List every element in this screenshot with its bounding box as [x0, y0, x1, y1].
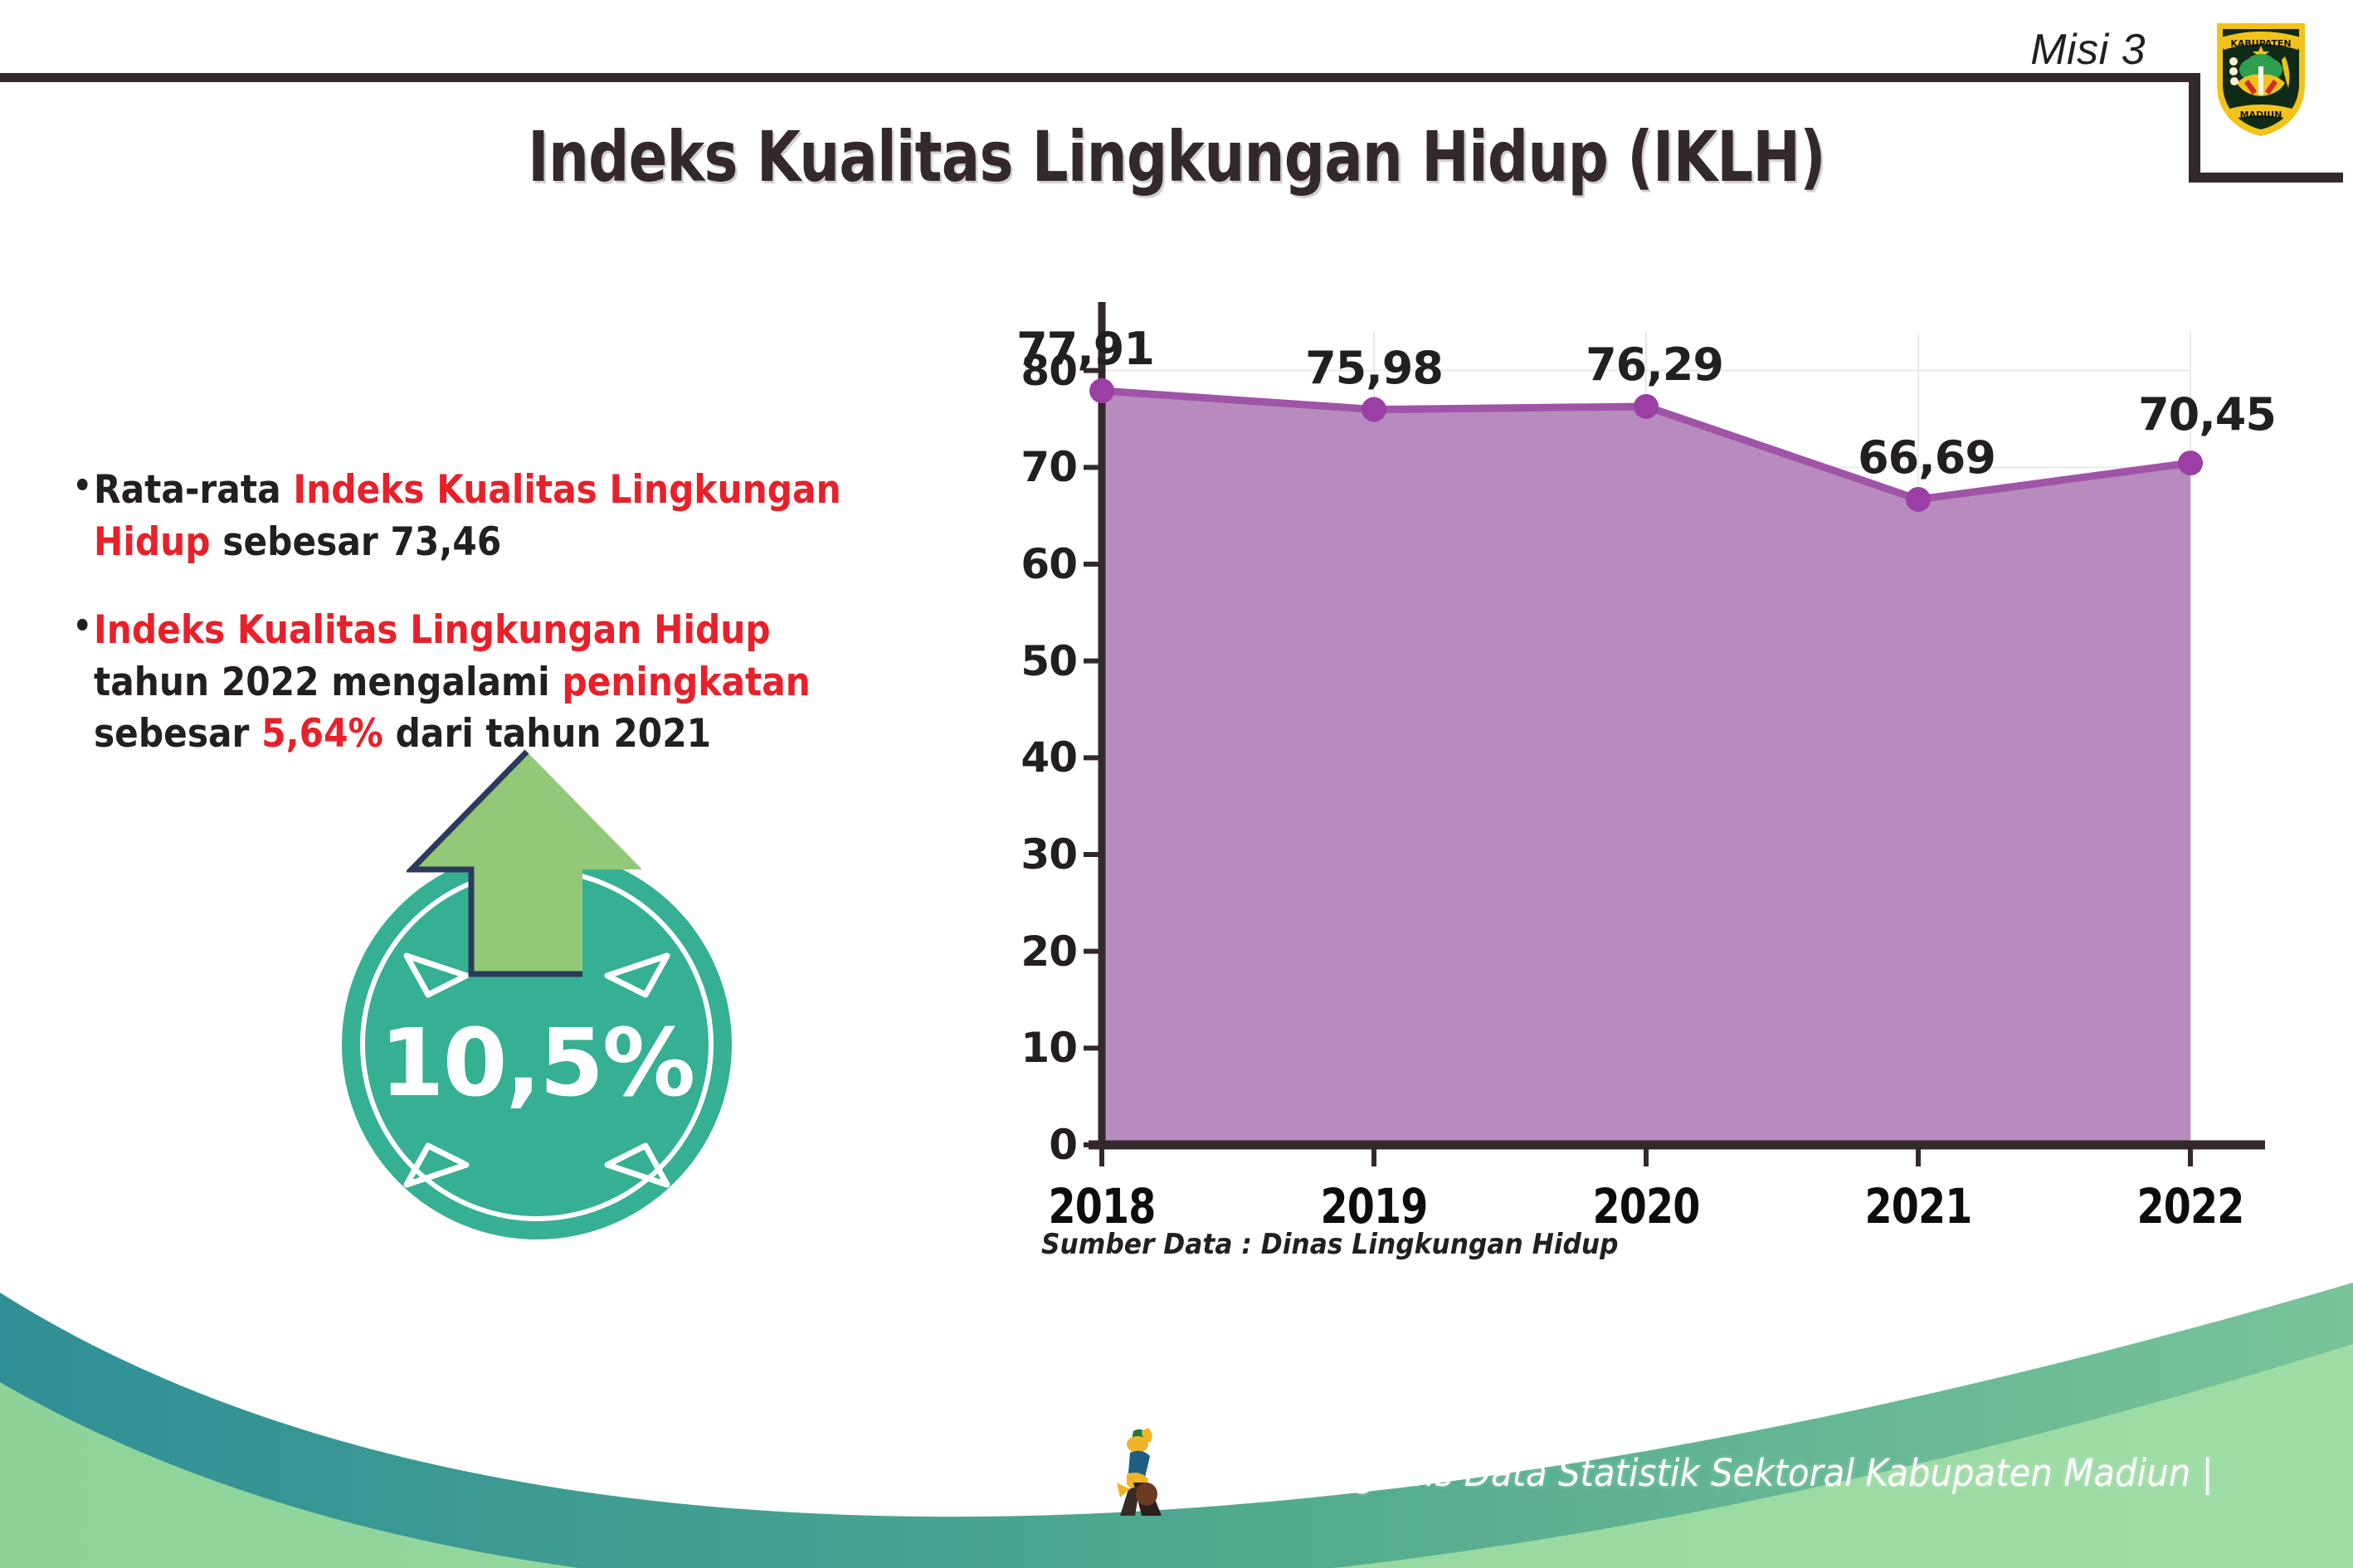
y-axis-tick-label: 50	[961, 637, 1077, 685]
y-axis-tick-label: 40	[961, 733, 1077, 782]
misi-label: Misi 3	[2030, 25, 2146, 75]
chart-canvas	[979, 282, 2273, 1294]
bullet-text-0-part-0: Rata-rata	[94, 467, 293, 513]
footer-caption: Media Infografis Data Statistik Sektoral…	[1174, 1451, 2214, 1495]
svg-text:MADIUN: MADIUN	[2240, 110, 2282, 120]
bullet-text-1-part-2: peningkatan	[562, 660, 811, 705]
list-item: Rata-rata Indeks Kualitas Lingkungan Hid…	[71, 465, 878, 568]
kabupaten-madiun-logo-icon: KABUPATEN MADIUN	[2212, 18, 2310, 141]
data-point-label: 75,98	[1250, 342, 1498, 394]
chart-area-series	[1102, 391, 2190, 1145]
bullet-text-1-part-3: sebesar	[94, 711, 261, 757]
y-axis-tick-label: 60	[961, 540, 1077, 588]
iklh-area-chart: 01020304050607080 20182019202020212022 7…	[979, 282, 2273, 1294]
bullet-text-0-part-2: sebesar 73,46	[211, 519, 502, 565]
y-axis-tick-label: 20	[961, 928, 1077, 976]
bullet-text-1-part-1: tahun 2022 mengalami	[94, 660, 562, 705]
y-axis-tick-label: 10	[961, 1024, 1077, 1072]
header-corner-horizontal	[2189, 173, 2343, 183]
badge-value: 10,5%	[342, 850, 732, 1239]
page-title: Indeks Kualitas Lingkungan Hidup (IKLH)	[212, 116, 2141, 197]
data-point-label: 76,29	[1530, 338, 1779, 391]
data-point-label: 70,45	[2083, 388, 2331, 441]
data-point-label: 66,69	[1802, 431, 2051, 484]
data-point-label: 77,91	[961, 323, 1210, 375]
header-corner-vertical	[2189, 73, 2200, 181]
list-item: Indeks Kualitas Lingkungan Hidup tahun 2…	[71, 605, 878, 761]
bullet-text-1-part-0: Indeks Kualitas Lingkungan Hidup	[94, 607, 771, 653]
increase-badge: 10,5%	[324, 747, 747, 1186]
y-axis-tick-label: 0	[961, 1121, 1077, 1169]
header-rule	[0, 73, 2195, 82]
y-axis-tick-label: 70	[961, 443, 1077, 491]
y-axis-tick-label: 30	[961, 830, 1077, 879]
